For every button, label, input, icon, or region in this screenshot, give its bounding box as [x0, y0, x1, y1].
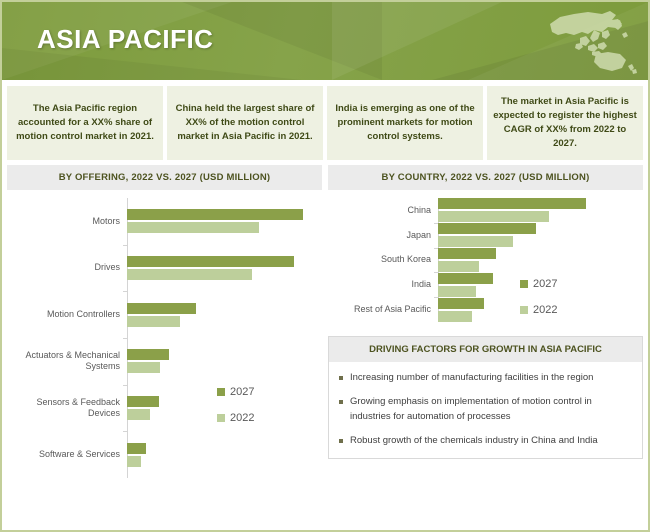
left-column: BY OFFERING, 2022 VS. 2027 (USD MILLION)…: [7, 165, 322, 486]
chart-bar-2022: [438, 261, 479, 272]
chart-legend: 20272022: [217, 386, 254, 424]
chart-row: Motors: [7, 198, 322, 245]
chart-category-label: Japan: [328, 230, 438, 241]
legend-label: 2027: [230, 386, 254, 398]
chart-category-label: Actuators & Mechanical Systems: [7, 350, 127, 373]
legend-item-2022: 2022: [217, 412, 254, 424]
chart-axis-tick: [434, 223, 438, 224]
chart-bar-group: [438, 223, 643, 247]
chart-category-label: Motors: [7, 216, 127, 227]
chart-bar-group: [438, 248, 643, 272]
callout-box-3: India is emerging as one of the prominen…: [327, 86, 483, 160]
chart-bar-2027: [127, 209, 303, 220]
legend-swatch: [217, 388, 225, 396]
chart-category-label: Motion Controllers: [7, 309, 127, 320]
chart-bar-2027: [438, 223, 536, 234]
bullet-icon: [339, 400, 343, 404]
chart-bar-group: [127, 443, 322, 467]
chart-row: Rest of Asia Pacific: [328, 297, 643, 322]
chart-bar-2022: [438, 311, 472, 322]
bullet-icon: [339, 376, 343, 380]
chart-bar-group: [127, 209, 322, 233]
chart-row: Japan: [328, 223, 643, 248]
driving-factor-text: Increasing number of manufacturing facil…: [350, 371, 593, 385]
legend-swatch: [520, 280, 528, 288]
legend-label: 2022: [533, 304, 557, 316]
chart-bar-2022: [438, 236, 513, 247]
chart-rows: MotorsDrivesMotion ControllersActuators …: [7, 198, 322, 478]
banner-header: ASIA PACIFIC: [2, 2, 648, 80]
callout-box-2: China held the largest share of XX% of t…: [167, 86, 323, 160]
chart-row: India: [328, 272, 643, 297]
chart-row: Sensors & Feedback Devices: [7, 385, 322, 432]
driving-factor-text: Robust growth of the chemicals industry …: [350, 434, 598, 448]
chart-bar-2022: [127, 269, 252, 280]
chart-bar-2027: [438, 198, 586, 209]
chart-axis-tick: [434, 297, 438, 298]
bullet-icon: [339, 439, 343, 443]
by-offering-header: BY OFFERING, 2022 VS. 2027 (USD MILLION): [7, 165, 322, 190]
chart-bar-2027: [127, 303, 196, 314]
chart-bar-group: [127, 256, 322, 280]
driving-factor-item: Increasing number of manufacturing facil…: [339, 371, 632, 385]
chart-axis-tick: [123, 291, 127, 292]
driving-factors-panel: DRIVING FACTORS FOR GROWTH IN ASIA PACIF…: [328, 336, 643, 459]
chart-bar-group: [127, 303, 322, 327]
page-title: ASIA PACIFIC: [37, 24, 213, 55]
chart-row: Drives: [7, 245, 322, 292]
chart-axis-tick: [123, 338, 127, 339]
chart-axis-tick: [123, 431, 127, 432]
chart-axis-tick: [123, 245, 127, 246]
chart-axis-tick: [123, 385, 127, 386]
chart-bar-2022: [127, 362, 160, 373]
chart-row: China: [328, 198, 643, 223]
driving-factor-item: Robust growth of the chemicals industry …: [339, 434, 632, 448]
legend-label: 2022: [230, 412, 254, 424]
chart-legend: 20272022: [520, 278, 557, 316]
legend-swatch: [520, 306, 528, 314]
legend-item-2027: 2027: [217, 386, 254, 398]
banner-facet: [332, 2, 502, 80]
chart-row: Software & Services: [7, 431, 322, 478]
chart-bar-2027: [438, 248, 496, 259]
legend-swatch: [217, 414, 225, 422]
chart-axis-tick: [434, 248, 438, 249]
chart-rows: ChinaJapanSouth KoreaIndiaRest of Asia P…: [328, 198, 643, 322]
by-country-chart: ChinaJapanSouth KoreaIndiaRest of Asia P…: [328, 190, 643, 330]
driving-factors-header: DRIVING FACTORS FOR GROWTH IN ASIA PACIF…: [329, 337, 642, 362]
chart-axis-tick: [434, 272, 438, 273]
chart-row: South Korea: [328, 248, 643, 273]
by-offering-chart: MotorsDrivesMotion ControllersActuators …: [7, 190, 322, 486]
chart-bar-2027: [127, 256, 294, 267]
legend-item-2022: 2022: [520, 304, 557, 316]
chart-bar-2027: [127, 396, 159, 407]
chart-bar-2022: [127, 222, 259, 233]
chart-category-label: India: [328, 279, 438, 290]
chart-bar-2027: [438, 273, 493, 284]
chart-bar-2027: [438, 298, 484, 309]
chart-row: Actuators & Mechanical Systems: [7, 338, 322, 385]
chart-category-label: Sensors & Feedback Devices: [7, 397, 127, 420]
infographic-page: ASIA PACIFIC The Asia Pacific region acc…: [0, 0, 650, 532]
chart-bar-2022: [127, 409, 150, 420]
driving-factors-list: Increasing number of manufacturing facil…: [329, 362, 642, 458]
right-column: BY COUNTRY, 2022 VS. 2027 (USD MILLION) …: [328, 165, 643, 486]
chart-bar-2022: [127, 316, 180, 327]
chart-category-label: Drives: [7, 262, 127, 273]
asia-pacific-map-icon: [536, 8, 640, 76]
callout-box-4: The market in Asia Pacific is expected t…: [487, 86, 643, 160]
chart-category-label: Rest of Asia Pacific: [328, 304, 438, 315]
chart-bar-2027: [127, 443, 146, 454]
chart-bar-2027: [127, 349, 169, 360]
chart-bar-group: [438, 198, 643, 222]
content-columns: BY OFFERING, 2022 VS. 2027 (USD MILLION)…: [2, 165, 648, 486]
chart-row: Motion Controllers: [7, 291, 322, 338]
chart-bar-2022: [127, 456, 141, 467]
chart-category-label: China: [328, 205, 438, 216]
chart-category-label: Software & Services: [7, 449, 127, 460]
callout-row: The Asia Pacific region accounted for a …: [2, 80, 648, 165]
chart-bar-2022: [438, 211, 549, 222]
by-country-header: BY COUNTRY, 2022 VS. 2027 (USD MILLION): [328, 165, 643, 190]
chart-bar-group: [127, 349, 322, 373]
driving-factor-item: Growing emphasis on implementation of mo…: [339, 395, 632, 424]
driving-factor-text: Growing emphasis on implementation of mo…: [350, 395, 632, 424]
legend-item-2027: 2027: [520, 278, 557, 290]
legend-label: 2027: [533, 278, 557, 290]
chart-category-label: South Korea: [328, 254, 438, 265]
chart-bar-2022: [438, 286, 476, 297]
callout-box-1: The Asia Pacific region accounted for a …: [7, 86, 163, 160]
